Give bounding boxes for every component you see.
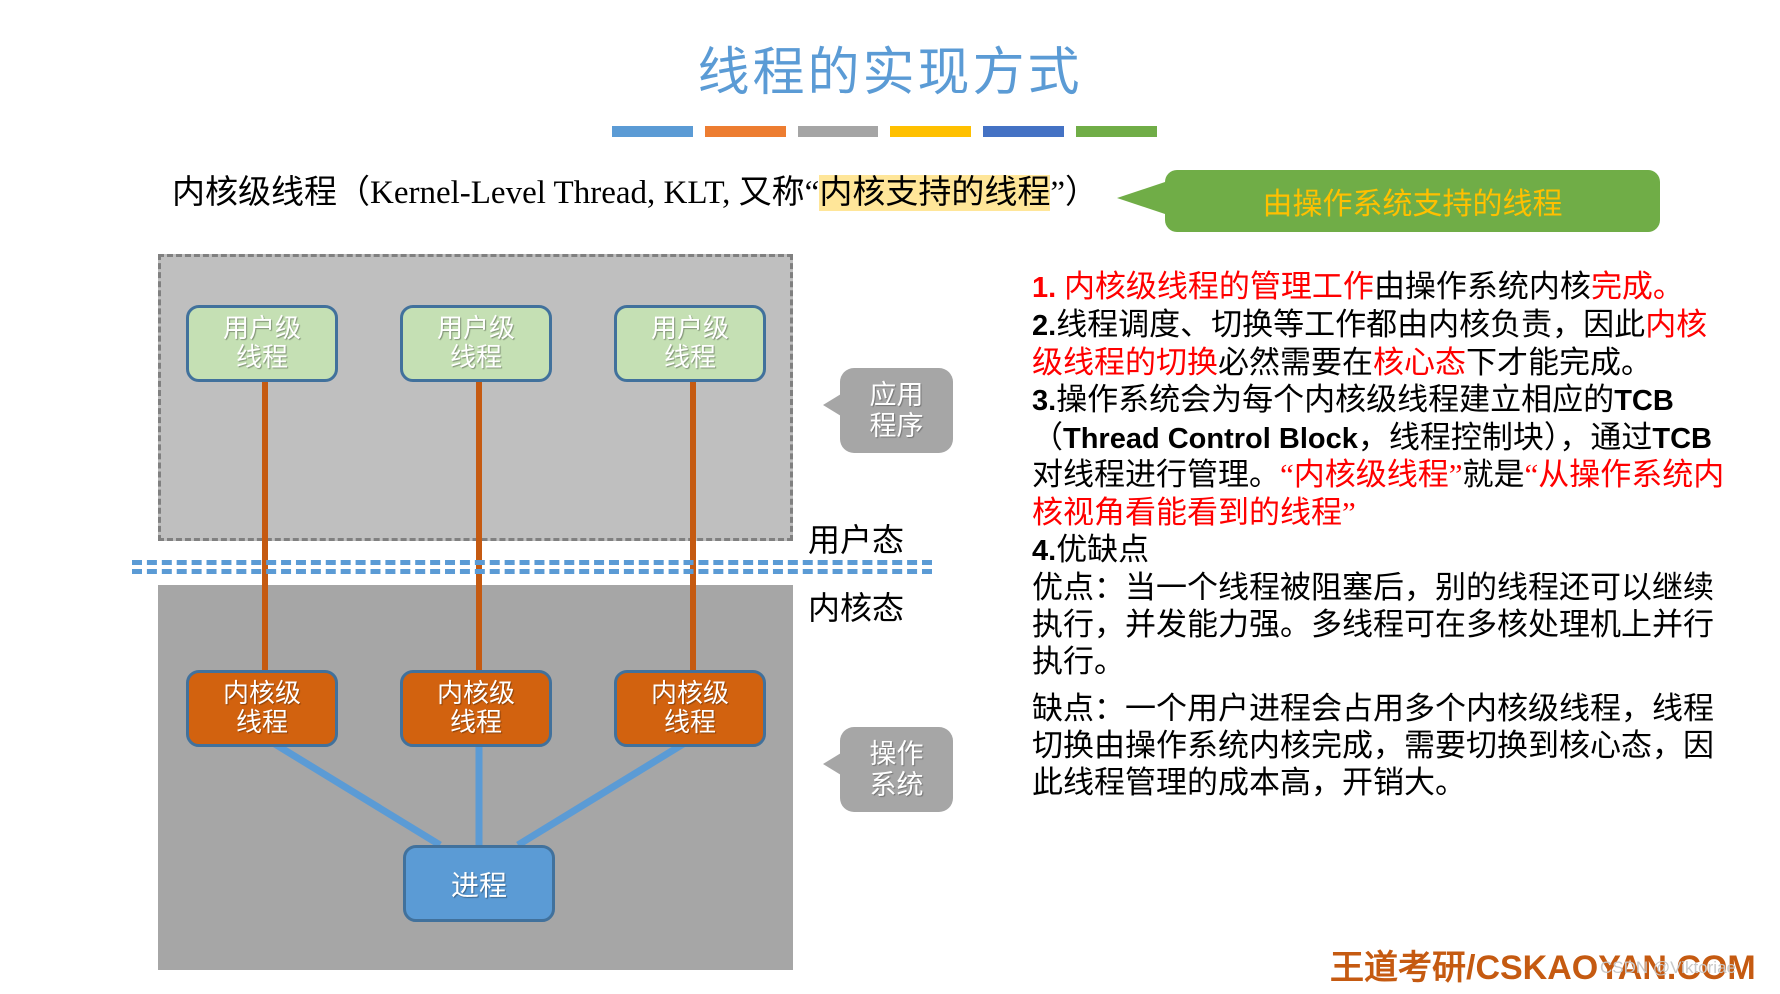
user-thread-box-2[interactable]: 用户级 线程 <box>400 305 552 382</box>
note-item-1-seg-b: 由操作系统内核 <box>1374 269 1591 304</box>
note-item-4: 4.优缺点 <box>1032 531 1732 569</box>
subtitle-part-2: ”） <box>1050 175 1098 211</box>
note-item-1: 1. 内核级线程的管理工作由操作系统内核完成。 <box>1032 268 1732 306</box>
slide-canvas: 线程的实现方式 内核级线程（Kernel-Level Thread, KLT, … <box>0 0 1780 994</box>
connector-orange-2 <box>476 382 482 682</box>
subtitle-part-1: 内核级线程（Kernel-Level Thread, KLT, 又称“ <box>172 175 819 211</box>
label-kernel-mode: 内核态 <box>808 583 904 629</box>
callout-application-line1: 应用 <box>870 380 924 410</box>
note-item-1-seg-a: 内核级线程的管理工作 <box>1064 269 1374 304</box>
user-thread-box-1-line2: 线程 <box>236 344 288 372</box>
note-item-3-seg-i: 就是 <box>1463 457 1525 492</box>
callout-application-line2: 程序 <box>870 411 924 441</box>
note-item-2-number: 2. <box>1032 310 1056 342</box>
watermark-label: CSDN @Viktoriae <box>1600 958 1736 978</box>
user-thread-box-2-line1: 用户级 <box>437 315 515 343</box>
callout-operating-system: 操作 系统 <box>840 727 953 812</box>
kernel-thread-box-1-line2: 线程 <box>236 709 288 737</box>
subtitle-line: 内核级线程（Kernel-Level Thread, KLT, 又称“内核支持的… <box>172 165 1098 213</box>
callout-os-supported-thread: 由操作系统支持的线程 <box>1165 170 1660 232</box>
rule-seg-6 <box>1076 126 1157 137</box>
user-thread-box-1-line1: 用户级 <box>223 315 301 343</box>
rule-seg-1 <box>612 126 693 137</box>
page-title: 线程的实现方式 <box>0 30 1780 105</box>
callout-operating-system-line1: 操作 <box>870 739 924 769</box>
note-item-1-seg-c: 完成。 <box>1591 269 1684 304</box>
user-thread-box-3[interactable]: 用户级 线程 <box>614 305 766 382</box>
title-rule-bar <box>612 126 1157 137</box>
user-thread-box-1[interactable]: 用户级 线程 <box>186 305 338 382</box>
note-item-3-seg-d: Thread Control Block <box>1063 423 1358 455</box>
user-thread-box-2-line2: 线程 <box>450 344 502 372</box>
callout-operating-system-tail <box>823 753 841 775</box>
divider-line-bottom <box>132 569 932 574</box>
note-item-3: 3.操作系统会为每个内核级线程建立相应的TCB（Thread Control B… <box>1032 381 1732 531</box>
note-item-4-pros: 优点：当一个线程被阻塞后，别的线程还可以继续执行，并发能力强。多线程可在多核处理… <box>1032 569 1732 681</box>
rule-seg-4 <box>890 126 971 137</box>
kernel-thread-box-2-line2: 线程 <box>450 709 502 737</box>
connector-orange-3 <box>690 382 696 682</box>
note-item-4-title: 优缺点 <box>1056 532 1149 567</box>
note-item-2-seg-e: 下才能完成。 <box>1466 345 1652 380</box>
notes-panel: 1. 内核级线程的管理工作由操作系统内核完成。 2.线程调度、切换等工作都由内核… <box>1032 268 1732 802</box>
kernel-thread-box-2[interactable]: 内核级 线程 <box>400 670 552 747</box>
callout-application: 应用 程序 <box>840 368 953 453</box>
user-thread-box-3-line1: 用户级 <box>651 315 729 343</box>
note-item-2-seg-c: 必然需要在 <box>1218 345 1373 380</box>
note-item-3-seg-c: （ <box>1032 420 1063 455</box>
rule-seg-5 <box>983 126 1064 137</box>
callout-tail <box>1117 182 1165 214</box>
note-item-1-number: 1. <box>1032 272 1056 304</box>
process-box-label: 进程 <box>451 864 507 904</box>
note-item-3-seg-b: TCB <box>1614 385 1674 417</box>
rule-seg-3 <box>798 126 879 137</box>
note-item-3-number: 3. <box>1032 385 1056 417</box>
kernel-thread-box-3-line2: 线程 <box>664 709 716 737</box>
note-item-3-seg-f: TCB <box>1652 423 1712 455</box>
note-item-3-seg-a: 操作系统会为每个内核级线程建立相应的 <box>1056 382 1614 417</box>
note-item-2: 2.线程调度、切换等工作都由内核负责，因此内核级线程的切换必然需要在核心态下才能… <box>1032 306 1732 381</box>
kernel-thread-box-2-line1: 内核级 <box>437 680 515 708</box>
user-kernel-divider <box>132 560 932 572</box>
connector-orange-1 <box>262 382 268 682</box>
note-item-3-seg-e: ，线程控制块），通过 <box>1358 420 1653 455</box>
user-thread-box-3-line2: 线程 <box>664 344 716 372</box>
note-item-3-seg-g: 对线程进行管理。 <box>1032 457 1280 492</box>
kernel-thread-box-3[interactable]: 内核级 线程 <box>614 670 766 747</box>
subtitle-highlight: 内核支持的线程 <box>819 175 1050 211</box>
kernel-thread-box-3-line1: 内核级 <box>651 680 729 708</box>
note-item-2-seg-d: 核心态 <box>1373 345 1466 380</box>
kernel-thread-box-1[interactable]: 内核级 线程 <box>186 670 338 747</box>
label-user-mode: 用户态 <box>808 515 904 561</box>
note-item-4-cons: 缺点：一个用户进程会占用多个内核级线程，线程切换由操作系统内核完成，需要切换到核… <box>1032 690 1732 802</box>
rule-seg-2 <box>705 126 786 137</box>
notes-spacer <box>1032 680 1732 690</box>
callout-os-supported-thread-label: 由操作系统支持的线程 <box>1165 170 1660 232</box>
callout-operating-system-line2: 系统 <box>870 770 924 800</box>
process-box[interactable]: 进程 <box>403 845 555 922</box>
note-item-3-seg-h: “内核级线程” <box>1280 457 1463 492</box>
kernel-thread-box-1-line1: 内核级 <box>223 680 301 708</box>
note-item-2-seg-a: 线程调度、切换等工作都由内核负责，因此 <box>1056 307 1645 342</box>
callout-application-tail <box>823 394 841 416</box>
note-item-4-number: 4. <box>1032 535 1056 567</box>
